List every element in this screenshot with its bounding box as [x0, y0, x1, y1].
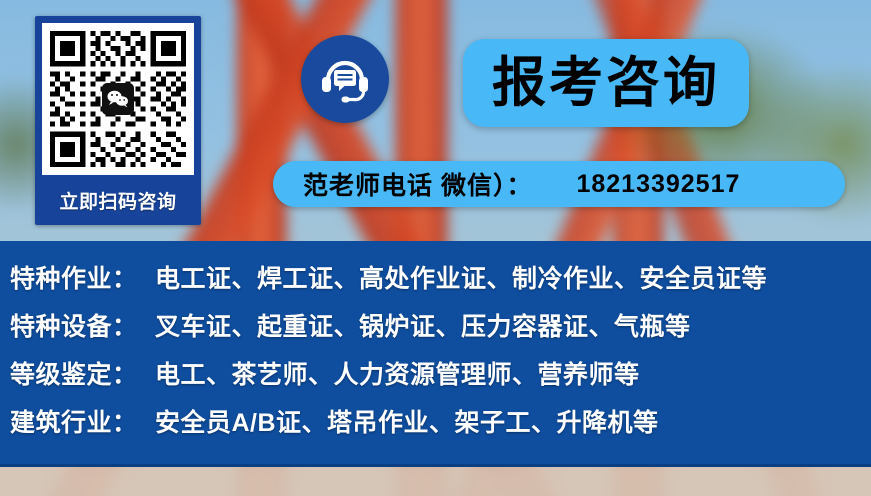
info-row-label: 特种设备： [10, 307, 155, 343]
info-row-label: 等级鉴定： [10, 355, 155, 391]
qr-caption: 立即扫码咨询 [42, 175, 194, 225]
qr-card[interactable]: 立即扫码咨询 [35, 16, 201, 225]
info-row-value: 叉车证、起重证、锅炉证、压力容器证、气瓶等 [155, 307, 691, 343]
info-row-value: 电工、茶艺师、人力资源管理师、营养师等 [155, 355, 640, 391]
contact-bar[interactable]: 范老师电话 微信）： 18213392517 [273, 161, 845, 207]
contact-label: 范老师电话 微信）： [303, 166, 532, 202]
wechat-icon [102, 83, 134, 115]
info-row-grade-assessment: 等级鉴定： 电工、茶艺师、人力资源管理师、营养师等 [10, 355, 871, 403]
info-row-special-equipment: 特种设备： 叉车证、起重证、锅炉证、压力容器证、气瓶等 [10, 307, 871, 355]
panel-bottom-edge [0, 464, 871, 467]
contact-phone-number[interactable]: 18213392517 [576, 170, 740, 199]
headset-support-icon [316, 50, 374, 108]
info-row-value: 电工证、焊工证、高处作业证、制冷作业、安全员证等 [155, 259, 767, 295]
info-row-label: 特种作业： [10, 259, 155, 295]
info-row-value: 安全员A/B证、塔吊作业、架子工、升降机等 [155, 403, 659, 439]
qr-code-image[interactable] [42, 23, 194, 175]
info-row-construction-industry: 建筑行业： 安全员A/B证、塔吊作业、架子工、升降机等 [10, 403, 871, 451]
support-badge[interactable] [301, 35, 389, 123]
info-row-special-operations: 特种作业： 电工证、焊工证、高处作业证、制冷作业、安全员证等 [10, 259, 871, 307]
service-list-panel: 特种作业： 电工证、焊工证、高处作业证、制冷作业、安全员证等 特种设备： 叉车证… [0, 241, 871, 467]
headline-banner: 报考咨询 [463, 39, 749, 127]
wechat-glyph [106, 89, 130, 109]
page-title: 报考咨询 [492, 56, 720, 110]
promo-poster: 立即扫码咨询 报考咨询 范老师电话 微信）： 18213392517 特 [0, 0, 871, 496]
info-row-label: 建筑行业： [10, 403, 155, 439]
